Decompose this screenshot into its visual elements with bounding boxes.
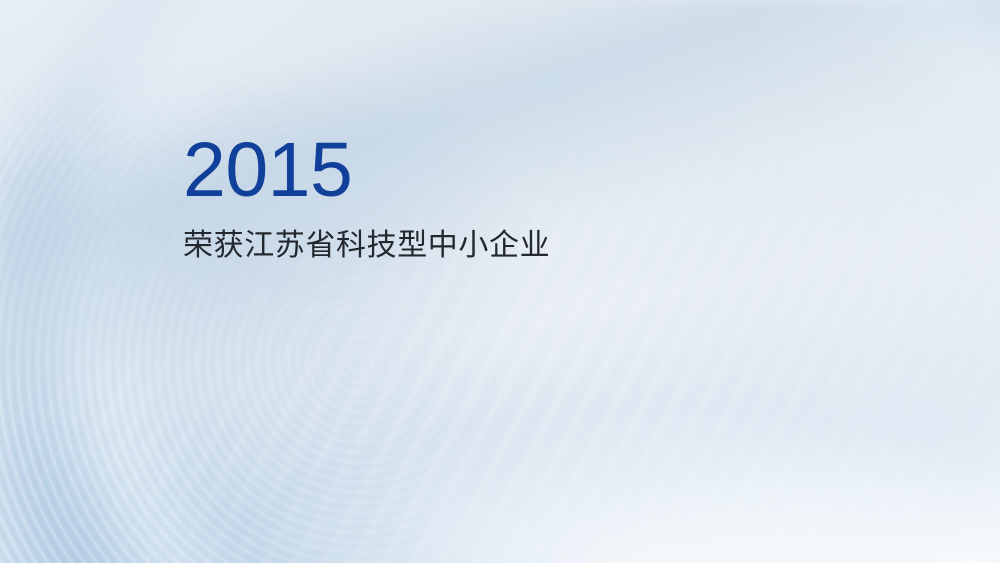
ribbon-white-core <box>0 0 1000 563</box>
background-plateau-top-right <box>0 0 1000 563</box>
background-blue-mass-lower-left <box>0 0 1000 563</box>
ribbon-blue-band <box>0 0 1000 563</box>
background-glow-center-bottom <box>0 0 1000 563</box>
ribbon-soft-band-3 <box>0 0 1000 563</box>
slide-subtitle: 荣获江苏省科技型中小企业 <box>183 227 550 265</box>
background-concentric-striations <box>0 0 1000 563</box>
background-light-unify <box>0 0 1000 563</box>
background-glow-lower-right <box>0 0 1000 563</box>
ribbon-hairline-edge <box>0 0 1000 563</box>
ribbon-soft-band-1 <box>0 0 1000 563</box>
ribbon-crisp-edge <box>0 0 1000 563</box>
background-haze-top-left <box>0 0 1000 563</box>
background-streak-upper-left <box>0 0 1000 563</box>
slide-text-block: 2015 荣获江苏省科技型中小企业 <box>183 132 550 265</box>
ribbon-white-highlight-inner <box>0 0 1000 563</box>
year-heading: 2015 <box>183 132 550 209</box>
background-brush-lines <box>0 0 1000 563</box>
ribbon-soft-band-4 <box>12 0 1000 563</box>
presentation-slide: 2015 荣获江苏省科技型中小企业 <box>0 0 1000 563</box>
ribbon-soft-band-2 <box>0 0 1000 563</box>
background-shadow-trough <box>0 0 1000 563</box>
background-base-gradient <box>0 0 1000 563</box>
background-silk-ribbon <box>0 0 1000 563</box>
